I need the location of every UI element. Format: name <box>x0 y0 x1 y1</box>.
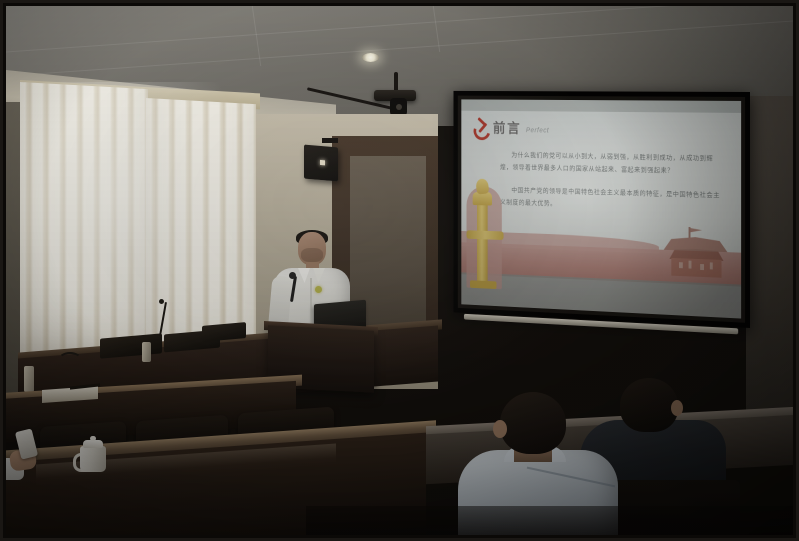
slide-top-band <box>461 99 741 113</box>
slide-header: 前言 Perfect <box>474 118 550 138</box>
hammer-sickle-icon <box>474 121 489 135</box>
speaker-bracket <box>322 138 338 143</box>
slide-paragraph: 为什么我们的党可以从小到大，从弱到强，从胜利到成功，从成功到辉煌，领导着世界最多… <box>500 149 722 178</box>
speaker-led-icon <box>320 160 325 165</box>
slide-subtitle: Perfect <box>526 123 549 135</box>
tea-mug[interactable] <box>78 438 108 472</box>
curtain-panel-left <box>20 82 148 374</box>
audience-head <box>500 392 566 454</box>
audience-head <box>620 378 678 432</box>
water-bottle <box>142 342 151 362</box>
water-bottle <box>24 366 34 392</box>
photograph-frame: 前言 Perfect 为什么我们的党可以从小到大，从弱到强，从胜利到成功，从成功… <box>0 0 799 541</box>
mug-body <box>80 446 106 472</box>
microphone-head-icon <box>159 299 164 304</box>
lapel-badge-icon <box>315 286 322 293</box>
monument-illustration <box>465 173 506 290</box>
presentation-slide: 前言 Perfect 为什么我们的党可以从小到大，从弱到强，从胜利到成功，从成功… <box>461 99 741 318</box>
projection-screen: 前言 Perfect 为什么我们的党可以从小到大，从弱到强，从胜利到成功，从成功… <box>453 91 750 328</box>
downlight-icon <box>362 53 379 62</box>
wall-speaker <box>304 145 338 182</box>
conference-room-scene: 前言 Perfect 为什么我们的党可以从小到大，从弱到强，从胜利到成功，从成功… <box>6 6 793 535</box>
wall-right <box>746 96 793 436</box>
mug-lid <box>83 440 103 448</box>
slide-title: 前言 <box>493 118 521 137</box>
microphone-head-icon <box>289 272 296 279</box>
slide-paragraph: 中国共产党的领导是中国特色社会主义最本质的特征，是中国特色社会主义制度的最大优势… <box>500 184 722 215</box>
slide-body: 为什么我们的党可以从小到大，从弱到强，从胜利到成功，从成功到辉煌，领导着世界最多… <box>500 149 722 226</box>
foreground-shadow <box>306 506 793 535</box>
gate-illustration <box>660 226 731 282</box>
cable <box>58 352 82 368</box>
